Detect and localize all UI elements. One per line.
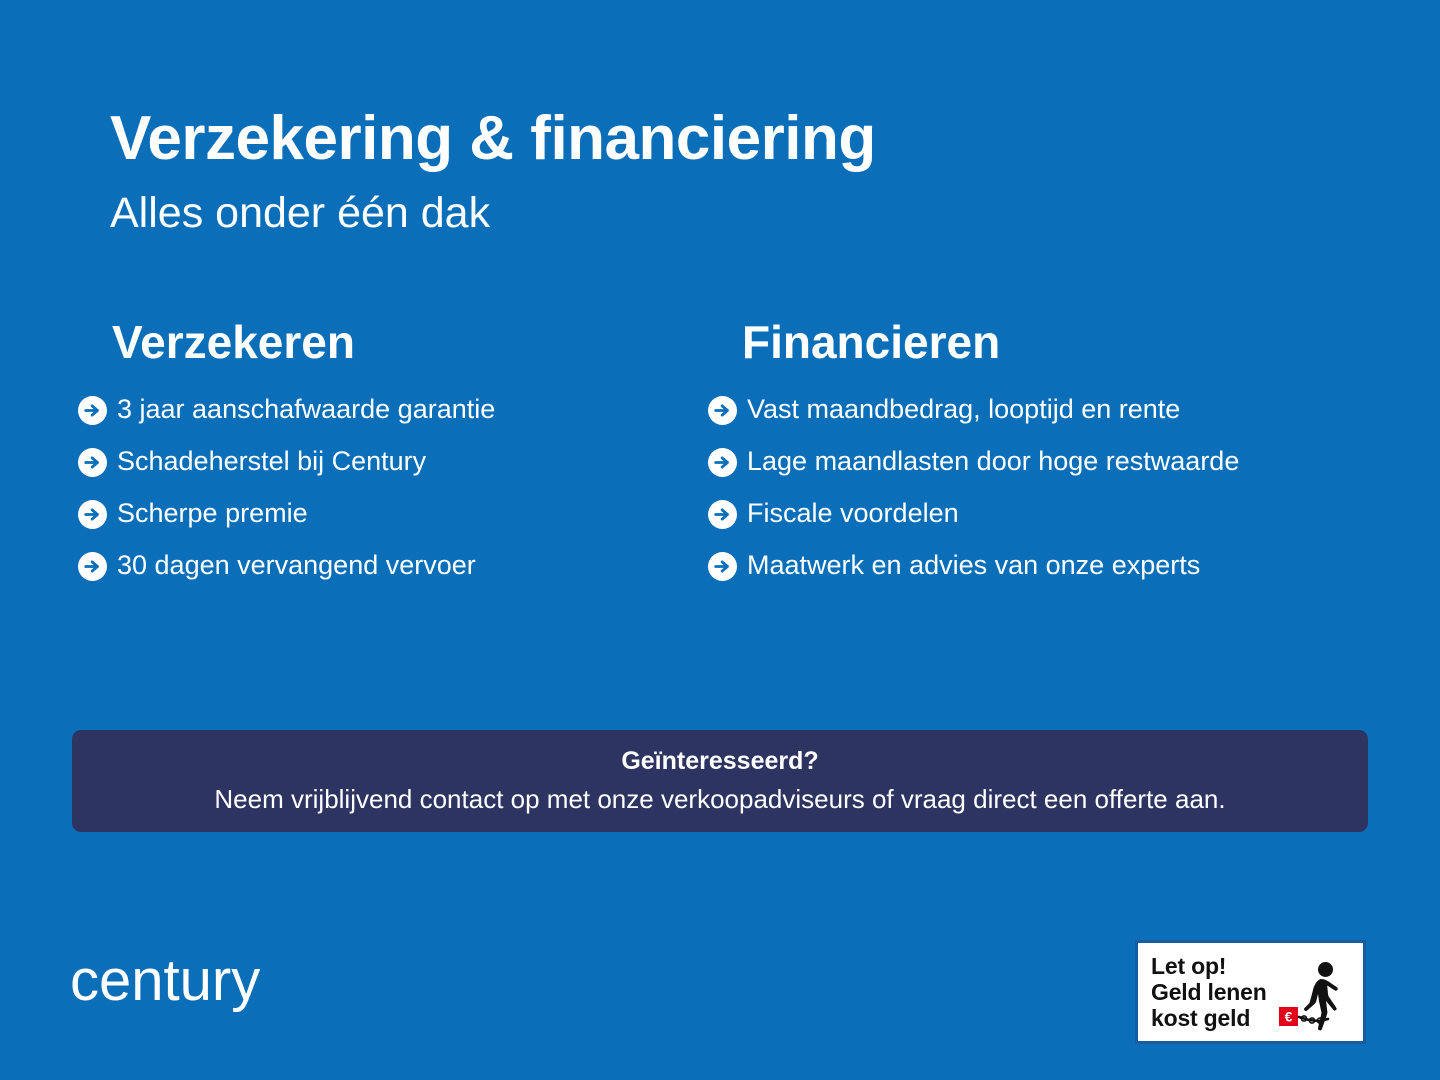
circle-arrow-right-icon [78, 552, 107, 581]
afm-warning-line-3: kost geld [1151, 1007, 1250, 1030]
circle-arrow-right-icon [708, 500, 737, 529]
column-title-verzekeren: Verzekeren [112, 318, 718, 366]
list-item-label: Fiscale voordelen [747, 499, 959, 529]
circle-arrow-right-icon [78, 448, 107, 477]
page-title: Verzekering & financiering [110, 108, 1310, 170]
century-logo: century [70, 952, 260, 1010]
header: Verzekering & financiering Alles onder é… [110, 108, 1310, 235]
slide-root: Verzekering & financiering Alles onder é… [0, 0, 1440, 1080]
cta-banner: Geïnteresseerd? Neem vrijblijvend contac… [72, 730, 1368, 832]
circle-arrow-right-icon [708, 396, 737, 425]
list-item: Lage maandlasten door hoge restwaarde [708, 436, 1408, 488]
list-item-label: Vast maandbedrag, looptijd en rente [747, 395, 1180, 425]
list-item: Maatwerk en advies van onze experts [708, 540, 1408, 592]
column-financieren: Financieren Vast maandbedrag, looptijd e… [708, 318, 1408, 592]
svg-text:€: € [1285, 1009, 1293, 1025]
afm-warning-badge: Let op! Geld lenen kost geld € [1135, 940, 1366, 1044]
column-verzekeren: Verzekeren 3 jaar aanschafwaarde garanti… [78, 318, 718, 592]
list-item: 30 dagen vervangend vervoer [78, 540, 718, 592]
circle-arrow-right-icon [708, 448, 737, 477]
list-item: Schadeherstel bij Century [78, 436, 718, 488]
feature-list-financieren: Vast maandbedrag, looptijd en rente Lage… [708, 384, 1408, 592]
list-item: 3 jaar aanschafwaarde garantie [78, 384, 718, 436]
feature-list-verzekeren: 3 jaar aanschafwaarde garantie Schadeher… [78, 384, 718, 592]
afm-warning-line-1: Let op! [1151, 955, 1226, 978]
circle-arrow-right-icon [78, 500, 107, 529]
cta-body: Neem vrijblijvend contact op met onze ve… [214, 784, 1225, 815]
page-subtitle: Alles onder één dak [110, 192, 1310, 235]
list-item-label: Maatwerk en advies van onze experts [747, 551, 1200, 581]
cta-heading: Geïnteresseerd? [621, 746, 818, 776]
list-item: Scherpe premie [78, 488, 718, 540]
walking-person-with-euro-ball-and-chain-icon: € [1279, 961, 1357, 1037]
afm-warning-inner: Let op! Geld lenen kost geld € [1138, 943, 1363, 1041]
afm-warning-line-2: Geld lenen [1151, 981, 1267, 1004]
column-title-financieren: Financieren [742, 318, 1408, 366]
circle-arrow-right-icon [708, 552, 737, 581]
list-item-label: 3 jaar aanschafwaarde garantie [117, 395, 495, 425]
circle-arrow-right-icon [78, 396, 107, 425]
list-item: Vast maandbedrag, looptijd en rente [708, 384, 1408, 436]
list-item-label: Lage maandlasten door hoge restwaarde [747, 447, 1239, 477]
list-item-label: Schadeherstel bij Century [117, 447, 426, 477]
list-item-label: 30 dagen vervangend vervoer [117, 551, 476, 581]
list-item-label: Scherpe premie [117, 499, 308, 529]
list-item: Fiscale voordelen [708, 488, 1408, 540]
